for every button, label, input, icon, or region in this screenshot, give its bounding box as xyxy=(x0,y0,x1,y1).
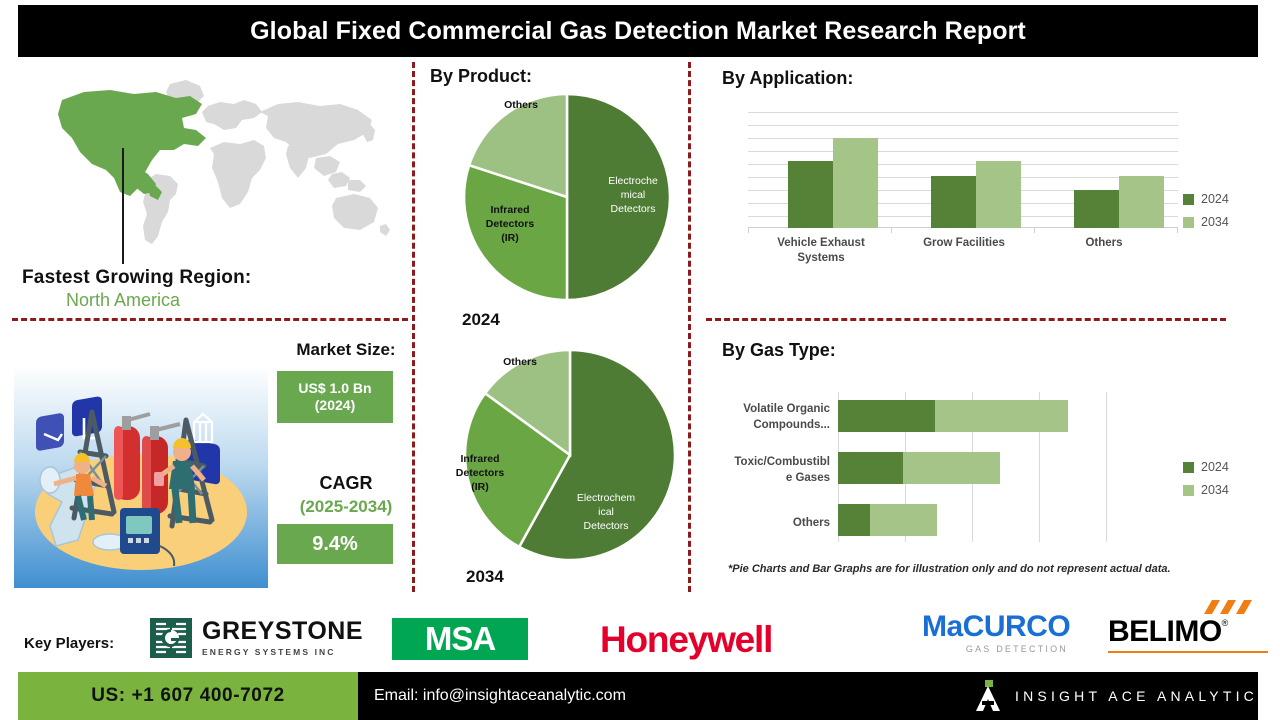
macurco-subtitle: GAS DETECTION xyxy=(922,644,1068,654)
gas-category-toxic: Toxic/Combustibl e Gases xyxy=(690,455,830,486)
fastest-growing-region-value: North America xyxy=(66,290,366,311)
gas-bar-others xyxy=(838,504,937,536)
gas-detection-illustration xyxy=(10,360,272,592)
key-players-label: Key Players: xyxy=(24,635,114,652)
footer-brand-text: INSIGHT ACE ANALYTIC xyxy=(1015,688,1258,704)
gas-legend-item-2034: 2034 xyxy=(1183,483,1229,497)
msa-name: MSA xyxy=(425,620,495,658)
macurco-name: MaCURCO xyxy=(922,612,1072,642)
belimo-underline xyxy=(1108,651,1268,653)
pie-2024-year: 2024 xyxy=(462,310,500,330)
chart-footnote: *Pie Charts and Bar Graphs are for illus… xyxy=(728,563,1171,575)
footer-brand: INSIGHT ACE ANALYTIC xyxy=(973,672,1258,720)
greystone-mark xyxy=(148,616,194,660)
gas-category-voc: Volatile Organic Compounds... xyxy=(690,402,830,433)
belimo-name: BELIMO xyxy=(1108,616,1222,648)
gas-legend-label-2024: 2024 xyxy=(1201,460,1229,474)
bar-others-2034 xyxy=(1119,176,1164,228)
honeywell-name: Honeywell xyxy=(600,619,772,661)
application-bar-chart xyxy=(748,112,1178,228)
gas-bar-toxic-2034 xyxy=(903,452,1000,484)
cagr-range: (2025-2034) xyxy=(272,497,420,517)
gas-bar-others-2024 xyxy=(838,504,870,536)
logo-honeywell: Honeywell xyxy=(600,618,860,662)
pie-2034-label-infrared: Infrared Detectors (IR) xyxy=(438,452,522,495)
divider-horizontal-right xyxy=(706,318,1226,321)
pie-2034-label-electrochemical: Electrochem ical Detectors xyxy=(564,491,648,534)
belimo-registered-icon: ® xyxy=(1222,618,1229,628)
pie-2034-year: 2034 xyxy=(466,567,504,587)
legend-swatch-2024 xyxy=(1183,194,1194,205)
market-size-value-box: US$ 1.0 Bn (2024) xyxy=(277,371,393,423)
by-gas-type-title: By Gas Type: xyxy=(722,340,836,361)
gas-category-others: Others xyxy=(690,516,830,532)
pie-2024-label-infrared: Infrared Detectors (IR) xyxy=(468,203,552,246)
gas-bar-others-2034 xyxy=(870,504,937,536)
market-size-year: (2024) xyxy=(315,397,355,415)
page-title-bar: Global Fixed Commercial Gas Detection Ma… xyxy=(18,5,1258,57)
gas-legend-swatch-2024 xyxy=(1183,462,1194,473)
insightace-logo-icon xyxy=(973,680,1003,712)
greystone-name: GREYSTONE xyxy=(202,619,363,644)
gas-bar-toxic xyxy=(838,452,1000,484)
fastest-growing-region-label: Fastest Growing Region: xyxy=(22,267,352,289)
application-legend: 2024 2034 xyxy=(1183,192,1229,238)
bar-grow-facilities-2024 xyxy=(931,176,976,228)
bar-grow-facilities-2034 xyxy=(976,161,1021,228)
footer-phone: US: +1 607 400-7072 xyxy=(91,685,285,707)
market-size-value: US$ 1.0 Bn xyxy=(298,380,371,398)
pie-2034-label-others: Others xyxy=(485,355,555,369)
application-category-grow-facilities: Grow Facilities xyxy=(906,236,1022,251)
legend-item-2024: 2024 xyxy=(1183,192,1229,206)
pie-2024-label-electrochemical: Electroche mical Detectors xyxy=(592,174,674,217)
map-leader-line xyxy=(122,148,124,264)
gas-type-legend: 2024 2034 xyxy=(1183,460,1229,506)
legend-swatch-2034 xyxy=(1183,217,1194,228)
gas-legend-item-2024: 2024 xyxy=(1183,460,1229,474)
legend-label-2034: 2034 xyxy=(1201,215,1229,229)
legend-item-2034: 2034 xyxy=(1183,215,1229,229)
greystone-subtitle: ENERGY SYSTEMS INC xyxy=(202,648,363,657)
by-application-title: By Application: xyxy=(722,68,853,89)
cagr-title: CAGR xyxy=(276,473,416,494)
north-america-highlight xyxy=(58,90,206,200)
pie-2024-label-others: Others xyxy=(486,98,556,112)
bar-vehicle-exhaust-2024 xyxy=(788,161,833,228)
divider-horizontal-left xyxy=(12,318,408,321)
gas-legend-label-2034: 2034 xyxy=(1201,483,1229,497)
logo-macurco: MaCURCO GAS DETECTION xyxy=(922,612,1072,664)
divider-vertical-right xyxy=(688,62,691,592)
logo-msa: MSA xyxy=(392,618,528,660)
logo-greystone: GREYSTONE ENERGY SYSTEMS INC xyxy=(148,612,348,664)
gas-bar-toxic-2024 xyxy=(838,452,903,484)
page-title: Global Fixed Commercial Gas Detection Ma… xyxy=(250,17,1026,46)
logo-belimo: BELIMO ® xyxy=(1108,600,1276,658)
footer-email[interactable]: Email: info@insightaceanalytic.com xyxy=(374,687,626,705)
cagr-value-box: 9.4% xyxy=(277,524,393,564)
by-product-title: By Product: xyxy=(430,66,532,87)
cagr-value: 9.4% xyxy=(312,533,358,556)
gas-bar-voc xyxy=(838,400,1068,432)
gas-legend-swatch-2034 xyxy=(1183,485,1194,496)
footer-phone-block: US: +1 607 400-7072 xyxy=(18,672,358,720)
application-category-vehicle-exhaust: Vehicle Exhaust Systems xyxy=(760,236,882,266)
gas-bar-voc-2034 xyxy=(935,400,1068,432)
bar-others-2024 xyxy=(1074,190,1119,228)
gas-bar-voc-2024 xyxy=(838,400,935,432)
gas-type-bar-chart xyxy=(838,392,1108,542)
belimo-stripes xyxy=(1200,600,1260,616)
bar-vehicle-exhaust-2034 xyxy=(833,138,878,228)
market-size-title: Market Size: xyxy=(276,340,416,360)
legend-label-2024: 2024 xyxy=(1201,192,1229,206)
application-category-others: Others xyxy=(1052,236,1156,251)
world-map xyxy=(20,62,410,262)
